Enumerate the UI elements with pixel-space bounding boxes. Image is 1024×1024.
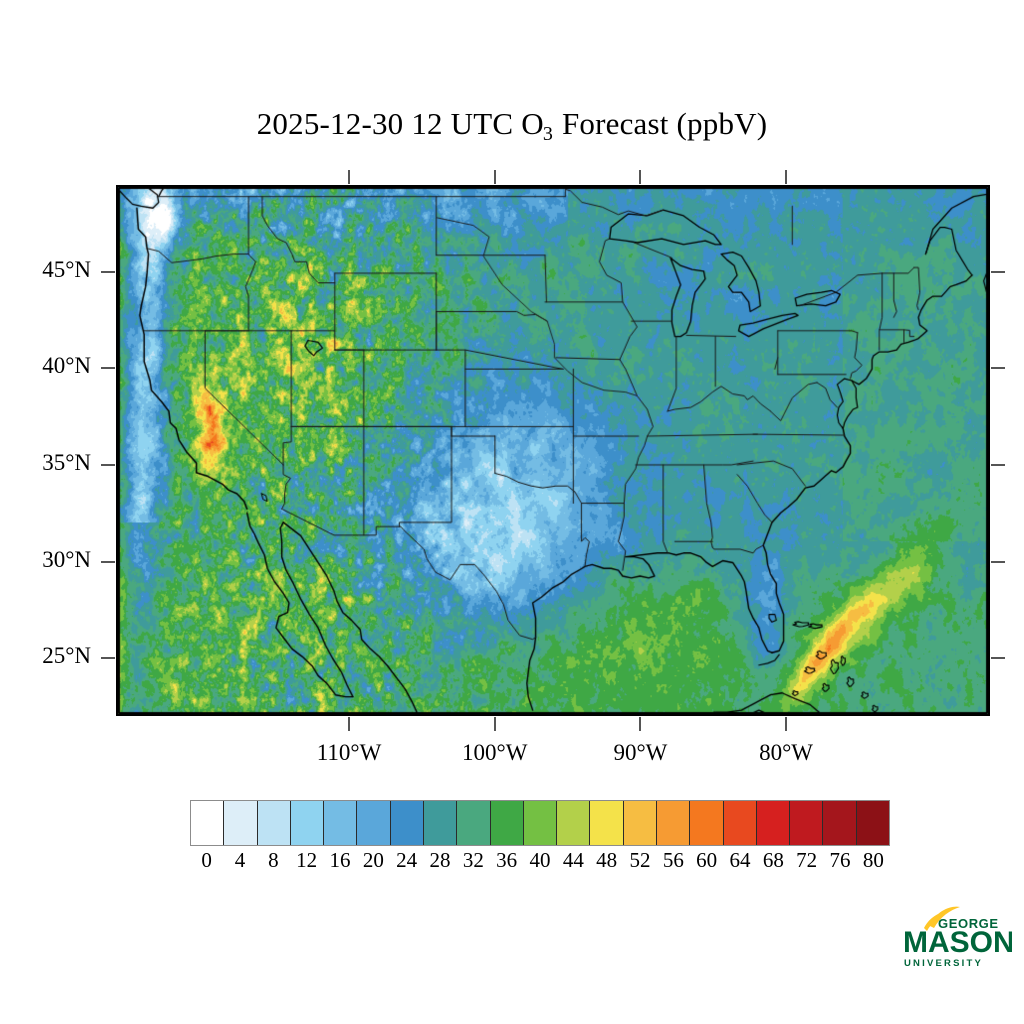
colorbar-tick-label: 68 — [763, 848, 784, 873]
lat-tick-right — [991, 464, 1005, 466]
colorbar-tick-label: 56 — [663, 848, 684, 873]
colorbar-tick-label: 8 — [268, 848, 279, 873]
gmu-university-text: UNIVERSITY — [904, 958, 983, 969]
lat-tick-left — [101, 561, 115, 563]
colorbar-tick-label: 24 — [396, 848, 417, 873]
lon-tick-bottom — [785, 717, 787, 731]
colorbar-tick-label: 80 — [863, 848, 884, 873]
lat-tick-right — [991, 657, 1005, 659]
colorbar-tick-label: 52 — [630, 848, 651, 873]
title-prefix: 2025-12-30 12 UTC O — [257, 106, 544, 141]
lon-tick-top — [785, 170, 787, 184]
colorbar-swatch — [790, 801, 823, 845]
colorbar-swatch — [491, 801, 524, 845]
lat-label: 25°N — [0, 643, 91, 669]
lat-tick-right — [991, 367, 1005, 369]
colorbar-tick-label: 0 — [201, 848, 212, 873]
colorbar-swatch — [590, 801, 623, 845]
colorbar-swatch — [457, 801, 490, 845]
lon-tick-top — [348, 170, 350, 184]
colorbar-swatch — [624, 801, 657, 845]
colorbar-swatch — [224, 801, 257, 845]
colorbar-swatch — [258, 801, 291, 845]
colorbar-tick-label: 36 — [496, 848, 517, 873]
lon-tick-bottom — [494, 717, 496, 731]
lat-label: 40°N — [0, 353, 91, 379]
colorbar-tick-label: 40 — [530, 848, 551, 873]
colorbar-tick-label: 4 — [235, 848, 246, 873]
gmu-logo-mark: MASON GEORGE UNIVERSITY — [900, 906, 1012, 974]
colorbar-swatch — [557, 801, 590, 845]
colorbar-tick-label: 28 — [430, 848, 451, 873]
colorbar-tick-label: 64 — [730, 848, 751, 873]
lat-label: 45°N — [0, 257, 91, 283]
lon-tick-bottom — [639, 717, 641, 731]
colorbar-swatch — [357, 801, 390, 845]
colorbar-tick-label: 16 — [330, 848, 351, 873]
colorbar-tick-label: 76 — [830, 848, 851, 873]
colorbar-swatch — [324, 801, 357, 845]
colorbar-swatch — [291, 801, 324, 845]
colorbar-swatch — [724, 801, 757, 845]
colorbar-tick-label: 48 — [596, 848, 617, 873]
lon-tick-top — [494, 170, 496, 184]
colorbar-tick-labels: 048121620242832364044485256606468727680 — [190, 848, 890, 878]
lon-label: 100°W — [435, 740, 555, 766]
title-suffix: Forecast (ppbV) — [554, 106, 767, 141]
gmu-george-text: GEORGE — [938, 916, 999, 931]
ozone-forecast-map — [116, 185, 990, 716]
colorbar-tick-label: 32 — [463, 848, 484, 873]
lat-tick-left — [101, 367, 115, 369]
gmu-logo: MASON GEORGE UNIVERSITY — [900, 906, 1012, 974]
colorbar-swatch — [391, 801, 424, 845]
colorbar: 048121620242832364044485256606468727680 — [190, 800, 890, 846]
lat-label: 35°N — [0, 450, 91, 476]
colorbar-swatch — [823, 801, 856, 845]
lat-label: 30°N — [0, 547, 91, 573]
page-title: 2025-12-30 12 UTC O3 Forecast (ppbV) — [0, 106, 1024, 146]
lat-tick-right — [991, 561, 1005, 563]
lon-tick-bottom — [348, 717, 350, 731]
colorbar-tick-label: 44 — [563, 848, 584, 873]
lat-tick-left — [101, 464, 115, 466]
colorbar-swatch — [757, 801, 790, 845]
lon-label: 90°W — [580, 740, 700, 766]
title-subscript: 3 — [543, 123, 553, 145]
colorbar-tick-label: 12 — [296, 848, 317, 873]
colorbar-swatch — [690, 801, 723, 845]
colorbar-swatch — [857, 801, 889, 845]
colorbar-tick-label: 60 — [696, 848, 717, 873]
lon-tick-top — [639, 170, 641, 184]
colorbar-swatches — [190, 800, 890, 846]
colorbar-tick-label: 20 — [363, 848, 384, 873]
ozone-heatmap-canvas — [118, 187, 988, 714]
lat-tick-left — [101, 271, 115, 273]
colorbar-swatch — [524, 801, 557, 845]
lon-label: 80°W — [726, 740, 846, 766]
colorbar-swatch — [191, 801, 224, 845]
lat-tick-left — [101, 657, 115, 659]
colorbar-tick-label: 72 — [796, 848, 817, 873]
lon-label: 110°W — [289, 740, 409, 766]
lat-tick-right — [991, 271, 1005, 273]
colorbar-swatch — [424, 801, 457, 845]
colorbar-swatch — [657, 801, 690, 845]
